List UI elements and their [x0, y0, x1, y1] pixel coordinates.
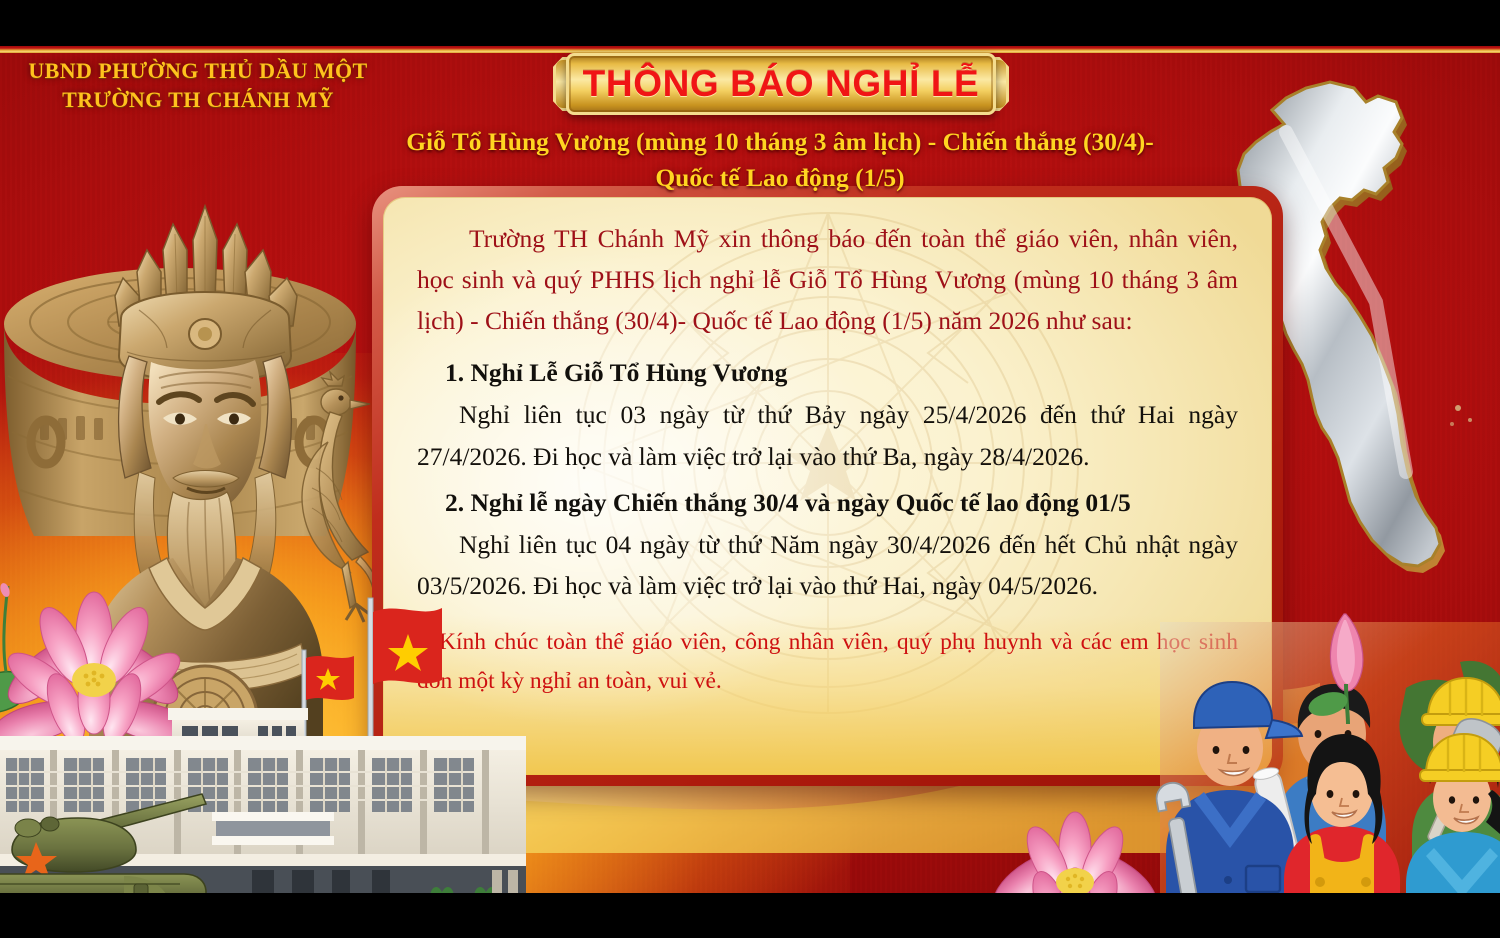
lotus-bud-icon — [1300, 604, 1390, 724]
letterbox-bottom-bar — [0, 893, 1500, 938]
subtitle-line-2: Quốc tế Lao động (1/5) — [330, 160, 1230, 196]
closing-paragraph: Kính chúc toàn thể giáo viên, công nhân … — [417, 623, 1238, 701]
intro-paragraph: Trường TH Chánh Mỹ xin thông báo đến toà… — [417, 219, 1238, 341]
section-2-heading: 2. Nghỉ lễ ngày Chiến thắng 30/4 và ngày… — [417, 485, 1238, 522]
org-line-1: UBND PHƯỜNG THỦ DẦU MỘT — [18, 56, 378, 85]
section-1-body: Nghỉ liên tục 03 ngày từ thứ Bảy ngày 25… — [417, 394, 1238, 477]
plaque-plate: THÔNG BÁO NGHỈ LỄ — [566, 53, 996, 115]
subtitle: Giỗ Tổ Hùng Vương (mùng 10 tháng 3 âm lị… — [330, 124, 1230, 196]
org-line-2: TRƯỜNG TH CHÁNH MỸ — [18, 85, 378, 114]
poster-stage: UBND PHƯỜNG THỦ DẦU MỘT TRƯỜNG TH CHÁNH … — [0, 46, 1500, 893]
title-banner: THÔNG BÁO NGHỈ LỄ — [566, 53, 996, 115]
announcement-panel: Trường TH Chánh Mỹ xin thông báo đến toà… — [383, 197, 1272, 775]
pink-lotus-bottom-right-icon — [980, 802, 1170, 893]
top-gold-stripe — [0, 46, 1500, 53]
t54-tank-with-red-star-icon — [0, 788, 254, 893]
subtitle-line-1: Giỗ Tổ Hùng Vương (mùng 10 tháng 3 âm lị… — [406, 127, 1154, 156]
organization-header: UBND PHƯỜNG THỦ DẦU MỘT TRƯỜNG TH CHÁNH … — [18, 56, 378, 115]
section-1-heading: 1. Nghỉ Lễ Giỗ Tổ Hùng Vương — [417, 355, 1238, 392]
poster-root: UBND PHƯỜNG THỦ DẦU MỘT TRƯỜNG TH CHÁNH … — [0, 0, 1500, 938]
announcement-body: Trường TH Chánh Mỹ xin thông báo đến toà… — [383, 197, 1272, 701]
section-2-body: Nghỉ liên tục 04 ngày từ thứ Năm ngày 30… — [417, 524, 1238, 607]
banner-title-text: THÔNG BÁO NGHỈ LỄ — [583, 63, 980, 105]
letterbox-top-bar — [0, 0, 1500, 46]
